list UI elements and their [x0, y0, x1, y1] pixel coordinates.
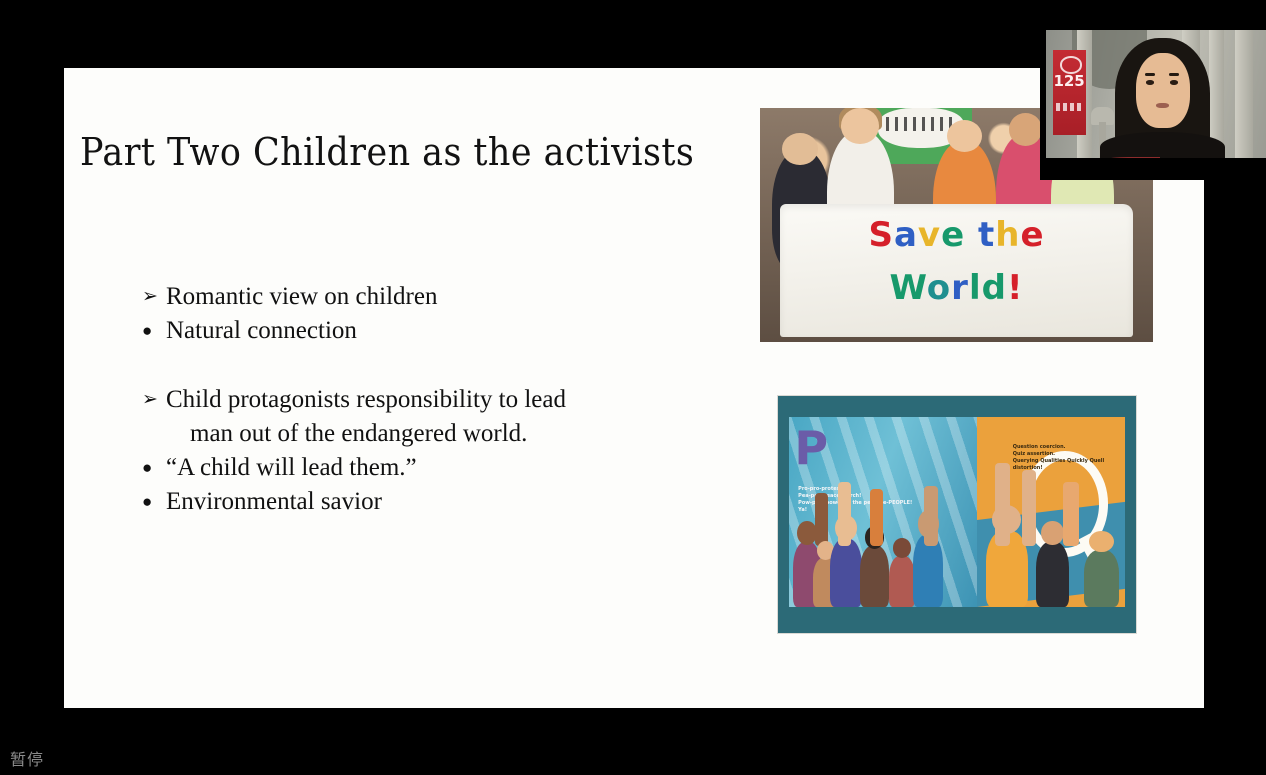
list-item-continuation: man out of the endangered world. — [142, 417, 682, 451]
raised-arm — [838, 482, 851, 546]
dot-bullet-icon: ● — [142, 485, 166, 519]
list-item: ● Environmental savior — [142, 485, 682, 519]
raised-arm — [995, 463, 1010, 546]
banner-text-line-1: Save the — [780, 215, 1134, 255]
picture-book-illustration: P Pro-pro-protest! Pea-pea-peace march! … — [777, 395, 1137, 634]
book-right-page: Question coercion. Quiz assertion. Query… — [977, 417, 1125, 607]
child-figure — [889, 556, 915, 607]
list-item: ● Natural connection — [142, 314, 682, 348]
dot-bullet-icon: ● — [142, 451, 166, 485]
book-left-page: P Pro-pro-protest! Pea-pea-peace march! … — [789, 417, 977, 607]
sign-handwriting — [886, 117, 957, 131]
eye — [1146, 80, 1155, 84]
page-title: Part Two Children as the activists — [80, 130, 694, 174]
banner-logo-icon — [1060, 56, 1082, 74]
list-item-label: “A child will lead them.” — [166, 451, 682, 485]
face — [1136, 53, 1190, 128]
bullet-block-1: ➢ Romantic view on children ● Natural co… — [142, 280, 682, 348]
bullet-block-2: ➢ Child protagonists responsibility to l… — [142, 383, 682, 519]
raised-arm — [924, 486, 937, 547]
list-item-label: Child protagonists responsibility to lea… — [166, 383, 682, 417]
list-item: ➢ Romantic view on children — [142, 280, 682, 314]
player-status-label: 暂停 — [10, 746, 44, 770]
raised-arm — [1022, 470, 1037, 546]
list-item-label: man out of the endangered world. — [166, 417, 682, 451]
list-item: ● “A child will lead them.” — [142, 451, 682, 485]
mouth — [1156, 103, 1169, 108]
letterbox-top — [1040, 0, 1266, 30]
child-figure — [860, 546, 888, 607]
raised-arm — [870, 489, 883, 546]
dot-bullet-icon: ● — [142, 314, 166, 348]
presentation-slide: Part Two Children as the activists ➢ Rom… — [64, 68, 1204, 708]
anniversary-banner: 125 — [1053, 50, 1086, 134]
list-item-label: Natural connection — [166, 314, 682, 348]
book-right-text: Question coercion. Quiz assertion. Query… — [1013, 444, 1123, 472]
protest-banner: Save the World! — [780, 204, 1134, 337]
letterbox-bottom — [1040, 158, 1266, 180]
raised-arm — [1063, 482, 1079, 546]
list-item-label: Romantic view on children — [166, 280, 682, 314]
list-item: ➢ Child protagonists responsibility to l… — [142, 383, 682, 417]
presenter-figure — [1125, 38, 1200, 158]
arrow-bullet-icon: ➢ — [142, 383, 166, 417]
banner-text-line-2: World! — [780, 268, 1134, 308]
letterbox-left — [1040, 0, 1046, 160]
eye — [1170, 80, 1179, 84]
shoulders — [1100, 132, 1226, 158]
arrow-bullet-icon: ➢ — [142, 280, 166, 314]
banner-number: 125 — [1053, 72, 1086, 90]
presenter-webcam[interactable]: 125 — [1046, 30, 1266, 158]
list-item-label: Environmental savior — [166, 485, 682, 519]
raised-arm — [815, 493, 828, 546]
child-figure — [830, 539, 862, 607]
column — [1235, 30, 1253, 158]
child-figure — [1036, 542, 1069, 606]
letter-p: P — [794, 425, 828, 471]
banner-subtext — [1056, 103, 1082, 111]
child-figure — [1084, 550, 1120, 607]
